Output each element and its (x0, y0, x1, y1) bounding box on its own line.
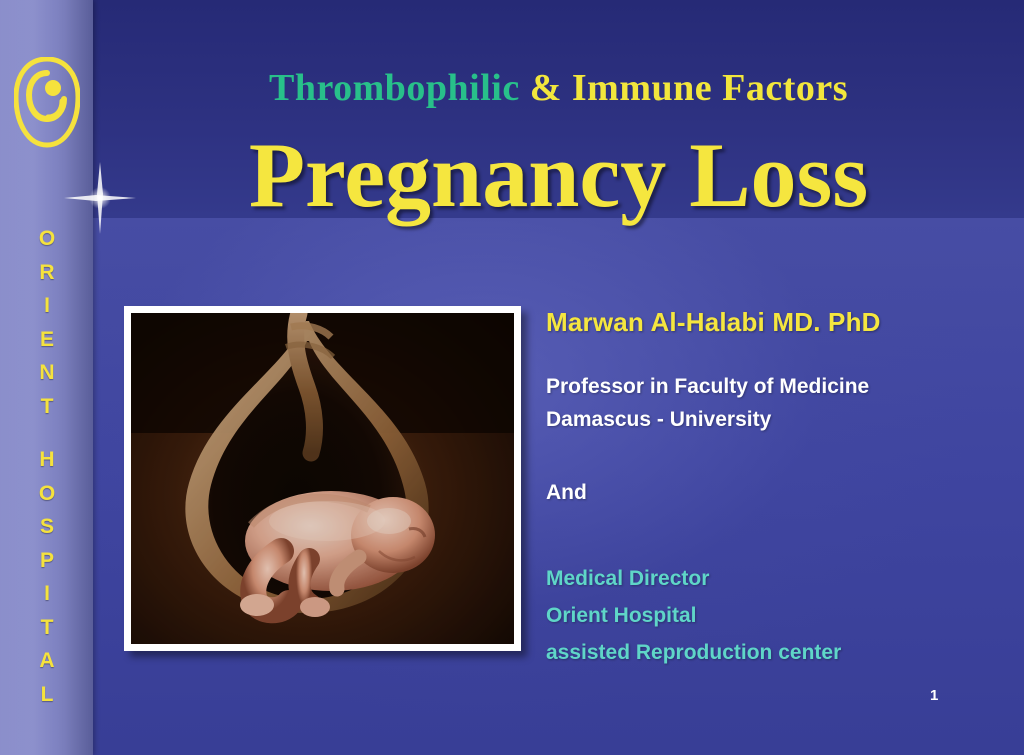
sidebar-letter: I (24, 577, 70, 611)
sidebar-letter: T (24, 611, 70, 645)
slide-title: Pregnancy Loss (93, 122, 1024, 228)
page-number: 1 (930, 687, 938, 704)
sidebar-letter: H (24, 443, 70, 477)
subtitle-part-thrombophilic: Thrombophilic (269, 67, 520, 109)
sidebar-letter: L (24, 678, 70, 712)
speaker-name: Marwan Al-Halabi MD. PhD (546, 307, 1016, 338)
sidebar-letter: R (24, 256, 70, 290)
role-line-3: assisted Reproduction center (546, 634, 1016, 671)
sidebar-letter: S (24, 510, 70, 544)
sidebar-vertical-label: O R I E N T H O S P I T A L (24, 222, 70, 711)
role-line-1: Medical Director (546, 560, 1016, 597)
affiliation-line-2: Damascus - University (546, 403, 1016, 436)
sidebar-letter: T (24, 390, 70, 424)
speaker-affiliation: Professor in Faculty of Medicine Damascu… (546, 370, 1016, 436)
slide-canvas: O R I E N T H O S P I T A L Thrombophili… (0, 0, 1024, 755)
sidebar-letter-gap (24, 423, 70, 443)
subtitle-part-immune: & Immune Factors (520, 67, 848, 109)
slide-subtitle: Thrombophilic & Immune Factors (93, 66, 1024, 110)
sidebar-letter: O (24, 477, 70, 511)
sidebar-letter: O (24, 222, 70, 256)
affiliation-line-1: Professor in Faculty of Medicine (546, 370, 1016, 403)
sidebar-letter: A (24, 644, 70, 678)
role-line-2: Orient Hospital (546, 597, 1016, 634)
sidebar-letter: I (24, 289, 70, 323)
conjunction-and: And (546, 481, 587, 505)
speaker-role-block: Medical Director Orient Hospital assiste… (546, 560, 1016, 671)
sidebar-letter: N (24, 356, 70, 390)
sidebar-letter: P (24, 544, 70, 578)
sidebar-letter: E (24, 323, 70, 357)
fetus-in-womb-illustration (131, 313, 514, 644)
photo-frame (124, 306, 521, 651)
orient-hospital-logo-icon (14, 57, 80, 149)
